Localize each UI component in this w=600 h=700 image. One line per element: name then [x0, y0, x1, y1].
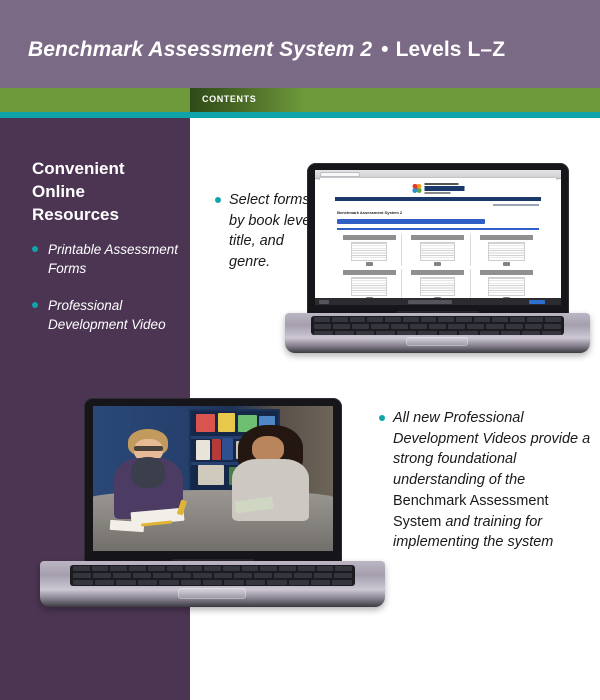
form-thumbnail[interactable] [474, 234, 539, 266]
laptop-forms: Benchmark Assessment System 2 [285, 163, 590, 353]
laptop-trackpad[interactable] [178, 588, 246, 599]
taskbar-active-window[interactable] [529, 300, 545, 304]
filter-bar[interactable] [337, 219, 485, 224]
form-thumbnail[interactable] [474, 269, 539, 301]
sidebar-item-professional-development-video[interactable]: Professional Development Video [32, 296, 182, 334]
browser-page-body: Benchmark Assessment System 2 [315, 180, 561, 305]
logo-mark-icon [412, 183, 423, 194]
pd-text-part1: All new Professional Development Videos … [393, 410, 590, 488]
site-navbar[interactable] [335, 197, 542, 201]
laptop-base [40, 561, 385, 607]
forms-thumbnail-grid [337, 234, 539, 299]
form-thumbnail[interactable] [337, 269, 402, 301]
page-title-main: Benchmark Assessment System 2 [28, 38, 372, 61]
laptop-forms-screen[interactable]: Benchmark Assessment System 2 [315, 170, 561, 305]
laptop-lid: Benchmark Assessment System 2 [307, 163, 569, 315]
paper-on-table [109, 519, 143, 531]
section-divider [337, 228, 539, 230]
contents-tab-label[interactable]: CONTENTS [202, 94, 256, 104]
account-links[interactable] [493, 204, 539, 206]
laptop-base [285, 313, 590, 353]
laptop-lid [84, 398, 342, 563]
bullet-dot-icon [32, 302, 38, 308]
sidebar-list: Printable Assessment Forms Professional … [32, 240, 182, 353]
sidebar-title: Convenient Online Resources [32, 158, 172, 227]
sidebar-item-label: Printable Assessment Forms [48, 242, 178, 276]
bullet-dot-icon [215, 197, 221, 203]
bullet-professional-development-text: All new Professional Development Videos … [379, 408, 591, 553]
taskbar-start-icon[interactable] [319, 300, 329, 304]
sidebar-item-printable-assessment-forms[interactable]: Printable Assessment Forms [32, 240, 182, 278]
form-thumbnail[interactable] [405, 269, 470, 301]
laptop-keyboard [311, 316, 564, 335]
teacher-figure [112, 429, 184, 519]
browser-window: Benchmark Assessment System 2 [315, 170, 561, 305]
form-thumbnail[interactable] [405, 234, 470, 266]
slide-page: Benchmark Assessment System 2•Levels L–Z… [0, 0, 600, 700]
bullet-dot-icon [379, 415, 385, 421]
logo-wordmark [425, 183, 465, 194]
sidebar-item-label: Professional Development Video [48, 298, 166, 332]
laptop-trackpad[interactable] [406, 337, 468, 346]
browser-page-heading: Benchmark Assessment System 2 [337, 210, 402, 215]
site-logo [412, 183, 465, 194]
laptop-keyboard [70, 565, 355, 586]
laptop-video-screen[interactable] [93, 406, 333, 551]
bullet-professional-development: All new Professional Development Videos … [379, 408, 591, 553]
page-title: Benchmark Assessment System 2•Levels L–Z [28, 38, 505, 62]
page-title-levels: Levels L–Z [396, 38, 506, 61]
os-taskbar [315, 298, 561, 305]
browser-tab[interactable] [320, 172, 360, 177]
bullet-dot-icon [32, 246, 38, 252]
title-separator-bullet: • [372, 38, 395, 61]
taskbar-window-button[interactable] [408, 300, 452, 304]
video-frame [93, 406, 333, 551]
form-thumbnail[interactable] [337, 234, 402, 266]
laptop-video [40, 398, 385, 610]
